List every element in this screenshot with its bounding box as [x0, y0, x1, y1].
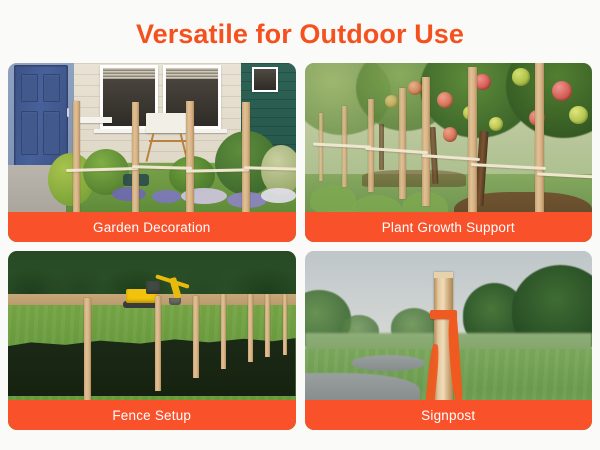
wooden-stake	[73, 101, 80, 226]
apple	[552, 81, 572, 101]
rural-road	[351, 355, 426, 371]
excavator-bucket	[169, 298, 181, 305]
apple	[569, 106, 588, 124]
promo-page: Versatile for Outdoor Use	[0, 0, 600, 450]
wooden-stake	[399, 88, 406, 199]
feature-card-grid: Garden Decoration	[8, 63, 592, 430]
flower-cluster	[112, 187, 147, 201]
card-caption: Fence Setup	[8, 400, 296, 430]
card-caption: Signpost	[305, 400, 593, 430]
apple	[437, 92, 453, 108]
card-caption: Garden Decoration	[8, 212, 296, 242]
chair-rail	[149, 140, 186, 142]
flower-cluster	[261, 188, 296, 202]
wooden-stake	[283, 294, 288, 355]
ground-weed	[310, 185, 356, 214]
wooden-stake	[132, 102, 139, 224]
window-far-right	[252, 67, 278, 92]
wooden-stake	[319, 113, 323, 181]
porch-rail	[77, 117, 112, 123]
folding-chair-back	[146, 113, 189, 133]
wooden-stake	[186, 101, 193, 226]
soil-patch	[362, 170, 466, 186]
wooden-stake	[242, 102, 249, 224]
feature-card-signpost[interactable]: Signpost	[305, 251, 593, 430]
wooden-stake	[248, 294, 253, 362]
apple	[385, 95, 398, 108]
wooden-stake	[155, 296, 161, 391]
wooden-stake	[193, 296, 199, 378]
post-top	[434, 272, 453, 277]
wooden-stake	[535, 63, 545, 228]
apple	[443, 127, 457, 141]
flower-cluster	[152, 190, 181, 203]
wooden-stake	[84, 298, 91, 405]
feature-card-garden-decoration[interactable]: Garden Decoration	[8, 63, 296, 242]
wooden-stake	[422, 77, 430, 206]
feature-card-fence-setup[interactable]: Fence Setup	[8, 251, 296, 430]
card-caption: Plant Growth Support	[305, 212, 593, 242]
apple	[489, 117, 503, 131]
wooden-stake	[221, 294, 226, 369]
wooden-stake	[468, 67, 477, 217]
page-title: Versatile for Outdoor Use	[136, 21, 464, 48]
wooden-stake	[265, 294, 270, 357]
door-handle	[67, 108, 69, 117]
feature-card-plant-growth-support[interactable]: Plant Growth Support	[305, 63, 593, 242]
front-door	[14, 65, 69, 169]
excavator-cab	[146, 281, 160, 294]
